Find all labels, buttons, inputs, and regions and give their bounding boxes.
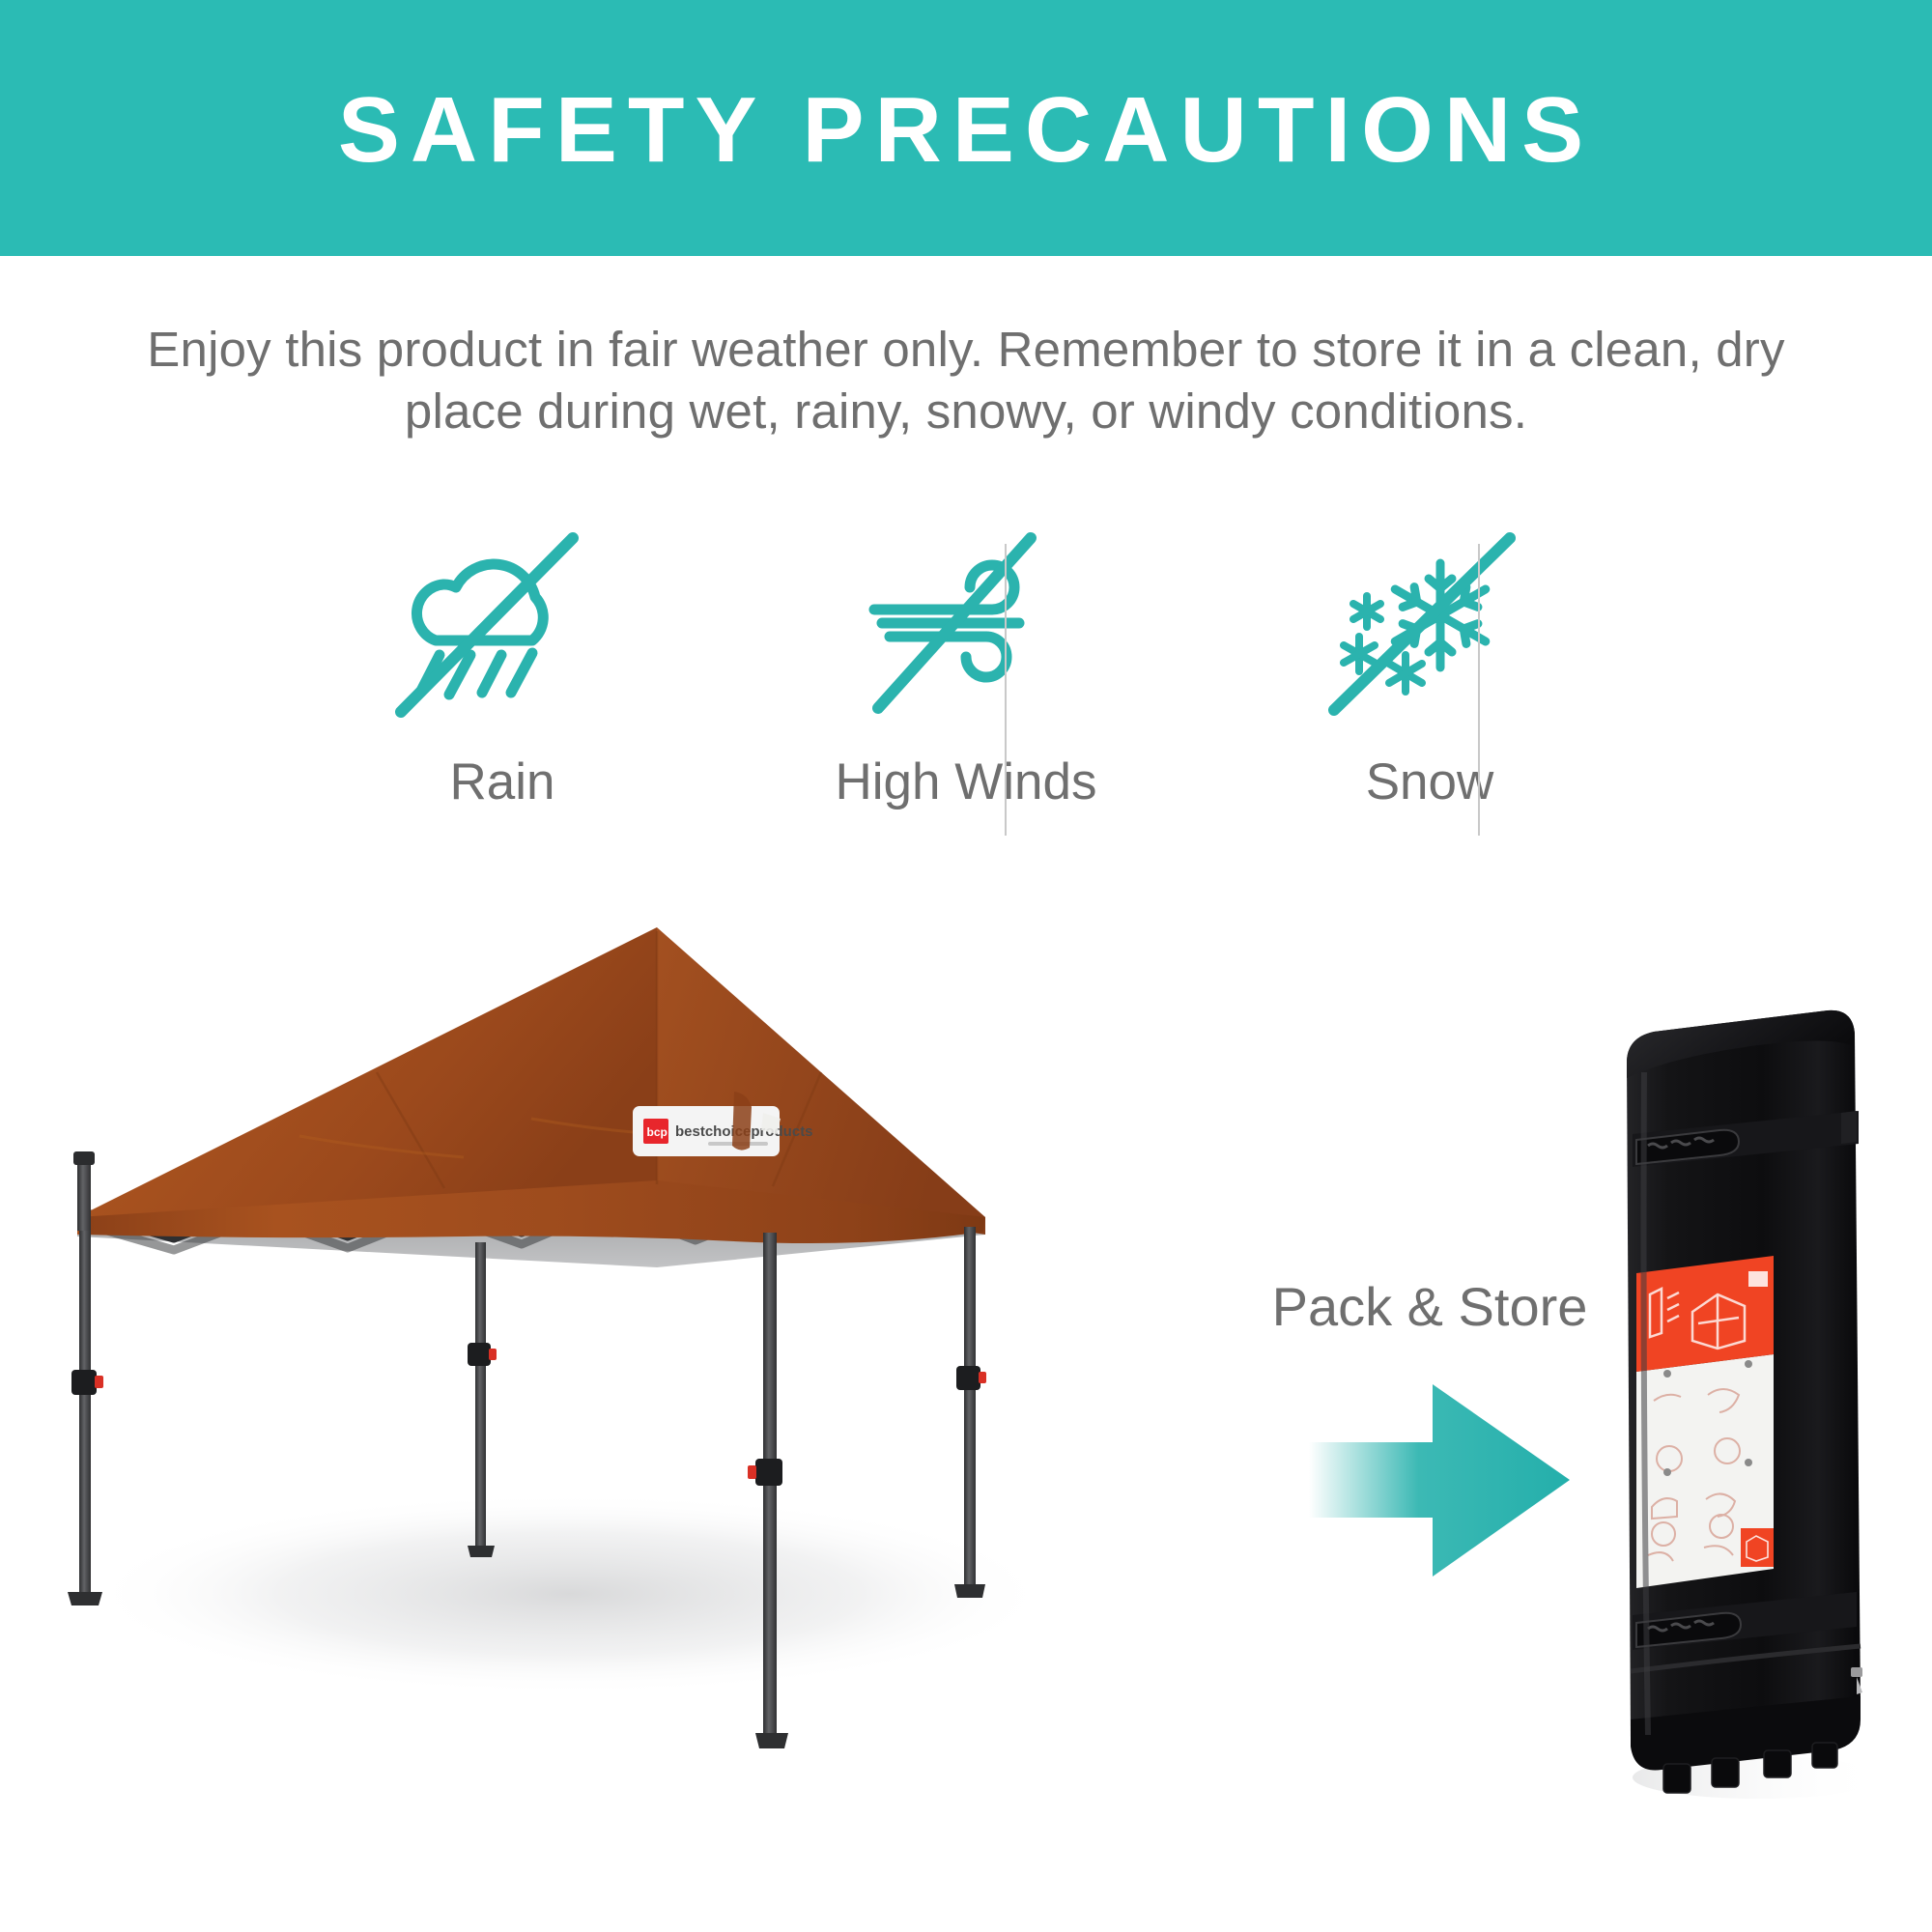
canopy-tent-illustration: bcp bestchoiceproducts (58, 927, 1236, 1893)
no-wind-icon (855, 526, 1077, 720)
subtitle-text: Enjoy this product in fair weather only.… (97, 319, 1835, 443)
pack-store-label: Pack & Store (1236, 1280, 1623, 1334)
carry-bag-illustration (1604, 1005, 1913, 1806)
weather-label-snow: Snow (1366, 756, 1494, 808)
leg-height-adjuster-front-center (748, 1459, 782, 1486)
page-title: SAFETY PRECAUTIONS (338, 84, 1594, 177)
leg-height-adjuster-right (956, 1366, 986, 1390)
weather-warning-row: Rain High Winds (270, 526, 1662, 845)
tent-ground-shadow (87, 1492, 1053, 1695)
brand-mark-text: bcp (647, 1125, 668, 1139)
weather-label-rain: Rain (449, 756, 554, 808)
weather-item-high-winds: High Winds (734, 526, 1198, 845)
weather-item-snow: Snow (1198, 526, 1662, 845)
weather-item-rain: Rain (270, 526, 734, 845)
header-banner: SAFETY PRECAUTIONS (0, 0, 1932, 256)
leg-foot-center-back (468, 1546, 495, 1557)
weather-label-high-winds: High Winds (836, 756, 1097, 808)
leg-foot-front-center (755, 1733, 788, 1748)
infographic-root: SAFETY PRECAUTIONS Enjoy this product in… (0, 0, 1932, 1932)
leg-height-adjuster-center-back (468, 1343, 497, 1366)
pack-store-arrow-icon (1309, 1377, 1647, 1584)
leg-foot-right (954, 1584, 985, 1598)
no-snow-icon (1319, 526, 1541, 720)
weather-divider-1 (1005, 544, 1007, 836)
leg-foot-left (68, 1592, 102, 1605)
bag-instruction-label (1636, 1256, 1774, 1588)
leg-height-adjuster-left (71, 1370, 103, 1395)
no-rain-icon (391, 526, 613, 720)
weather-divider-2 (1478, 544, 1480, 836)
